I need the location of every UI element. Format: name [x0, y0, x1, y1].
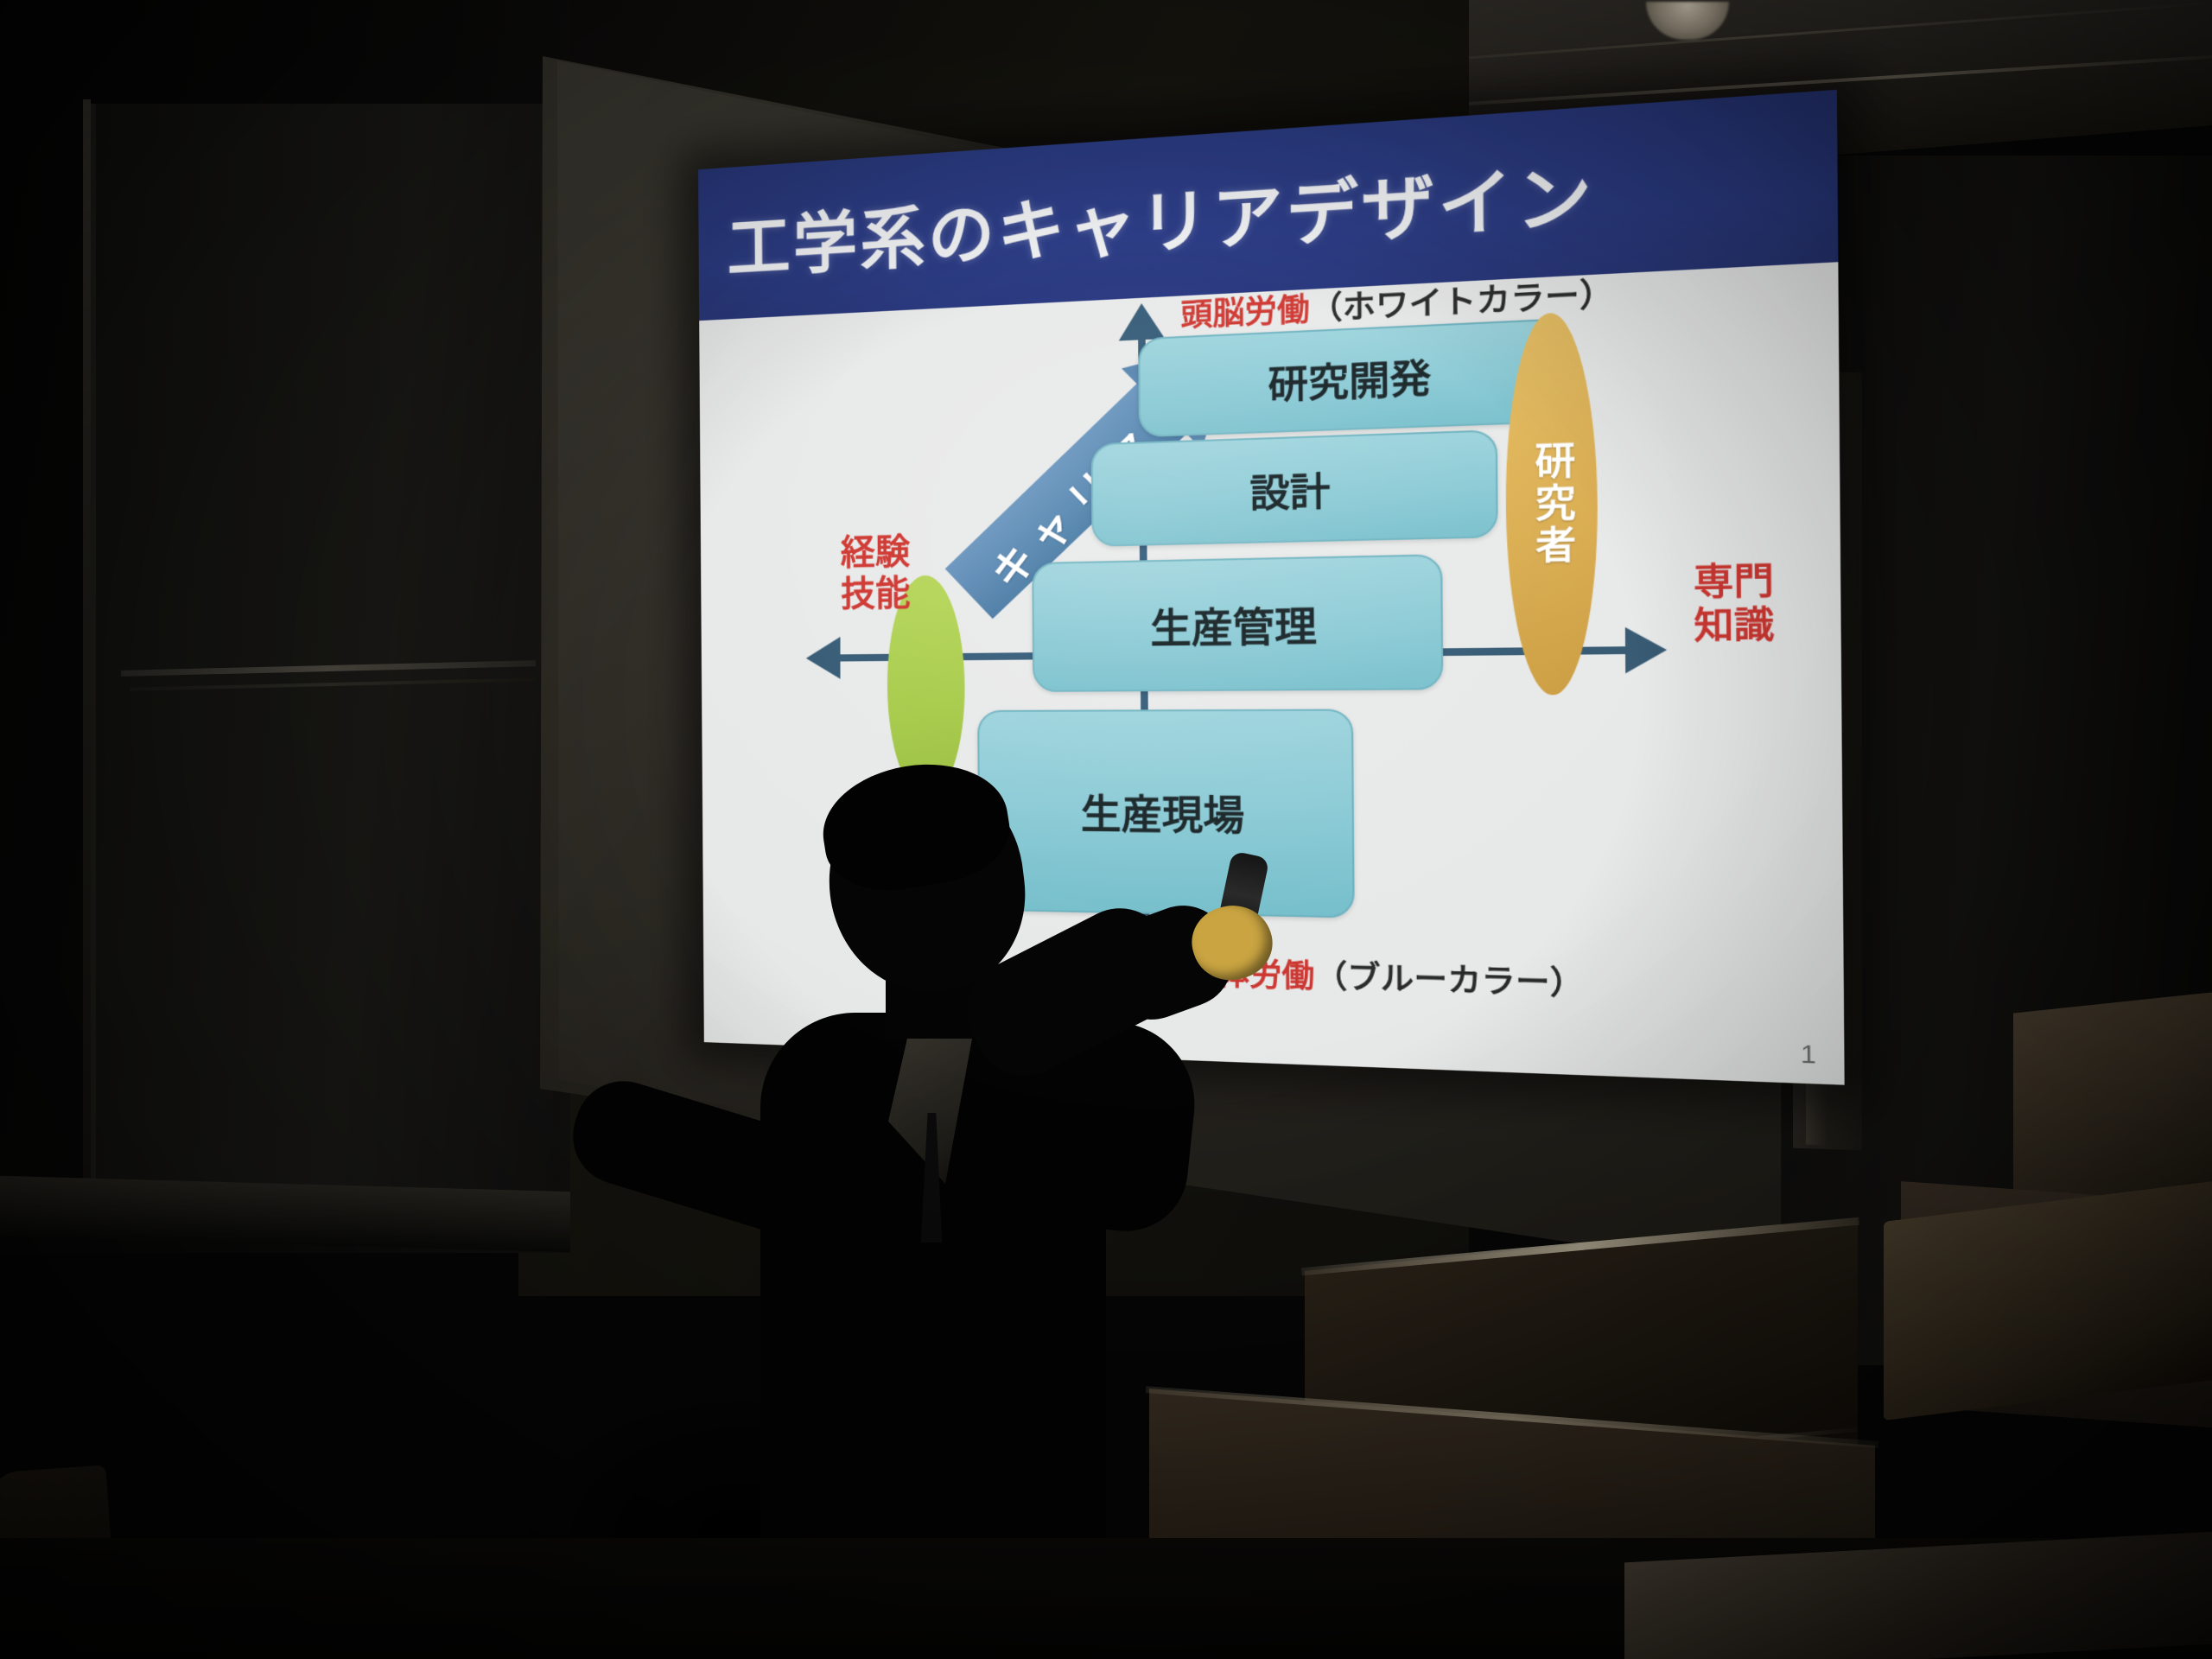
- diagram-box-design: 設計: [1091, 429, 1498, 547]
- axis-label-knowledge: 知識: [1681, 602, 1788, 647]
- chair: [1884, 1180, 2212, 1421]
- axis-label-brain-work-paren: （ホワイトカラー）: [1310, 276, 1615, 328]
- axis-arrow-left-icon: [806, 637, 841, 679]
- axis-label-specialized: 専門: [1681, 558, 1787, 604]
- page-title: 工学系のキャリアデザイン: [727, 138, 1595, 290]
- diagram-box-research-development: 研究開発: [1138, 318, 1570, 437]
- researcher-ellipse-shape: 研究者: [1504, 311, 1599, 696]
- axis-label-brain-work-main: 頭脳労働: [1180, 291, 1310, 334]
- axis-label-experience-skill: 経験 技能: [828, 531, 924, 617]
- axis-label-skill: 技能: [828, 573, 924, 616]
- lecture-hall-room: 工学系のキャリアデザイン キャリア 研究開発: [0, 0, 2212, 1659]
- researcher-ellipse-label: 研究者: [1522, 440, 1581, 568]
- cabinet-edge: [83, 99, 91, 1197]
- wall-cabinet: [91, 104, 554, 1192]
- axis-label-experience: 経験: [828, 531, 924, 575]
- diagram-box-production-management: 生産管理: [1032, 554, 1443, 692]
- axis-label-specialized-knowledge: 専門 知識: [1681, 558, 1787, 647]
- axis-arrow-right-icon: [1625, 626, 1667, 673]
- left-wall: [0, 0, 570, 1253]
- slide-number: 1: [1801, 1039, 1816, 1071]
